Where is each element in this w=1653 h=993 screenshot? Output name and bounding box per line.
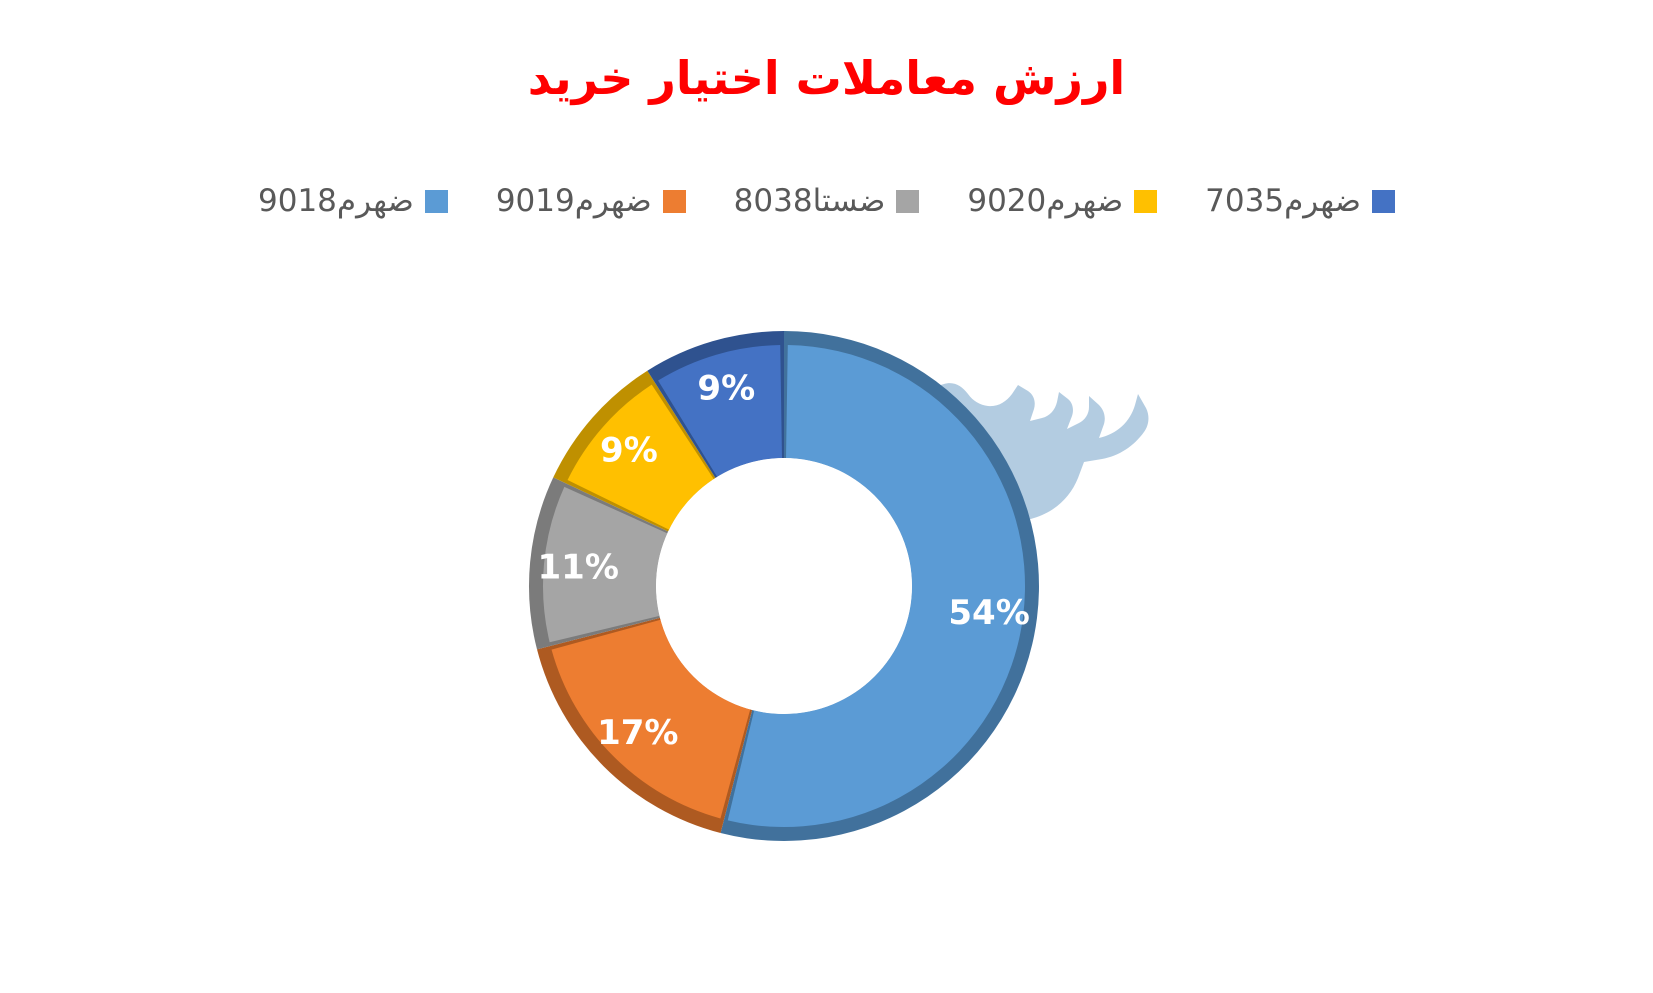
legend-label-1: ضهرم9019 [496,186,652,217]
legend-swatch-icon-2 [896,190,919,213]
chart-legend: ضهرم9018 ضهرم9019 ضستا8038 ضهرم9020 ضهرم… [0,186,1653,217]
legend-item-3[interactable]: ضهرم9020 [967,186,1157,217]
donut-chart: 54%17%11%9%9% [528,330,1040,842]
legend-item-1[interactable]: ضهرم9019 [496,186,686,217]
donut-hole [656,458,912,714]
donut-svg: 54%17%11%9%9% [528,330,1040,842]
legend-label-0: ضهرم9018 [258,186,414,217]
legend-label-3: ضهرم9020 [967,186,1123,217]
legend-label-2: ضستا8038 [734,186,886,217]
legend-swatch-icon-4 [1372,190,1395,213]
legend-label-4: ضهرم7035 [1205,186,1361,217]
legend-swatch-icon-1 [663,190,686,213]
legend-item-0[interactable]: ضهرم9018 [258,186,448,217]
pie-slice-label-2: 11% [538,548,619,588]
pie-slice-label-1: 17% [597,713,678,753]
pie-slice-label-3: 9% [600,430,658,470]
pie-slice-label-4: 9% [697,369,755,409]
pie-slice-label-0: 54% [948,593,1029,633]
chart-container: ارزش معاملات اختیار خرید ضهرم9018 ضهرم90… [0,0,1653,993]
legend-swatch-icon-0 [425,190,448,213]
legend-swatch-icon-3 [1134,190,1157,213]
legend-item-2[interactable]: ضستا8038 [734,186,920,217]
legend-item-4[interactable]: ضهرم7035 [1205,186,1395,217]
chart-title: ارزش معاملات اختیار خرید [0,52,1653,105]
